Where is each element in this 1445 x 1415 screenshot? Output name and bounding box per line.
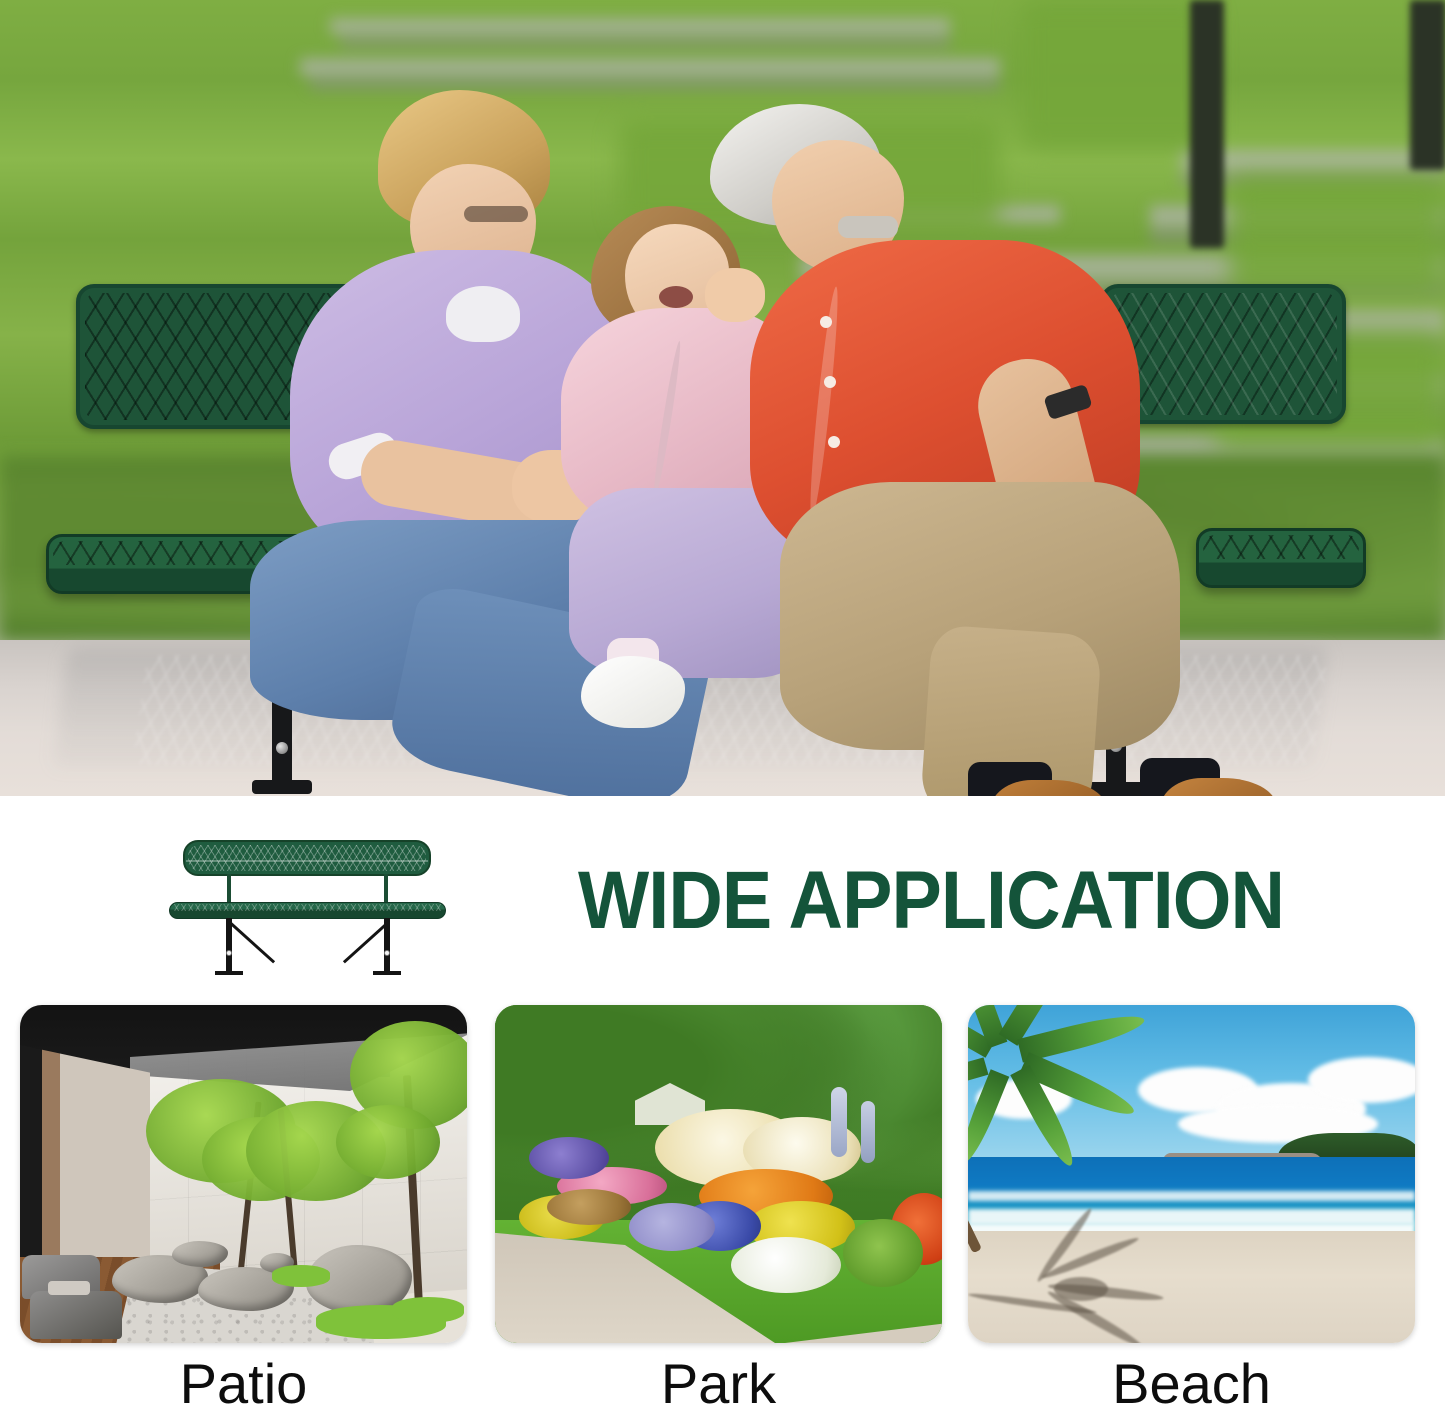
grandfather-button-3 — [828, 436, 840, 448]
mesh-pattern — [188, 845, 426, 871]
application-card-patio[interactable] — [20, 1005, 467, 1343]
cutout-post-left — [227, 874, 231, 904]
cutout-foot-left — [215, 971, 243, 975]
palm-shadow-crown — [1054, 1277, 1108, 1301]
beach-surf-far — [968, 1191, 1415, 1201]
park-spire-2 — [861, 1101, 875, 1163]
park-flowers-lavender — [629, 1203, 715, 1251]
application-card-beach[interactable] — [968, 1005, 1415, 1343]
cutout-post-right — [384, 874, 388, 904]
patio-rock-2 — [172, 1241, 228, 1267]
bench-product-cutout — [165, 836, 455, 976]
beach-photo — [968, 1005, 1415, 1343]
grandmother-collar — [446, 286, 520, 342]
background-post-right — [1410, 0, 1445, 170]
park-flowers-white-mound — [731, 1237, 841, 1293]
park-spire-1 — [831, 1087, 847, 1157]
hero-lifestyle-photo — [0, 0, 1445, 796]
cutout-backrest — [183, 840, 431, 876]
application-labels: Patio Park Beach — [0, 1352, 1445, 1415]
mesh-pattern — [171, 904, 444, 911]
grandmother-glasses — [464, 206, 528, 222]
cutout-bolt-left — [226, 950, 232, 956]
patio-photo — [20, 1005, 467, 1343]
patio-lounge-chair-2 — [30, 1291, 122, 1339]
patio-moss-1 — [272, 1265, 330, 1287]
bench-bolt-left — [276, 742, 288, 754]
person-grandfather — [710, 90, 1270, 796]
patio-moss-3 — [392, 1297, 464, 1323]
cutout-brace-left — [230, 922, 275, 963]
girl-mouth — [659, 286, 693, 308]
page-title: WIDE APPLICATION — [578, 860, 1284, 942]
label-patio: Patio — [20, 1352, 467, 1415]
application-card-park[interactable] — [495, 1005, 942, 1343]
park-shrub-brown — [547, 1189, 631, 1225]
park-grass-clump — [843, 1219, 923, 1287]
girl-sneaker — [581, 656, 685, 728]
park-flowers-purple — [529, 1137, 609, 1179]
cutout-leg-left — [226, 918, 232, 975]
cutout-bolt-right — [384, 950, 390, 956]
label-beach: Beach — [968, 1352, 1415, 1415]
grandfather-button-2 — [824, 376, 836, 388]
beach-sand — [968, 1231, 1415, 1343]
bench-foot-left — [252, 780, 312, 794]
cutout-foot-right — [373, 971, 401, 975]
cutout-backrest-rail — [186, 860, 428, 862]
label-park: Park — [495, 1352, 942, 1415]
park-photo — [495, 1005, 942, 1343]
patio-tree-foliage-3b — [336, 1105, 440, 1179]
patio-side-table — [48, 1281, 90, 1295]
grandfather-moustache — [838, 216, 898, 238]
grandfather-button-1 — [820, 316, 832, 328]
cutout-brace-right — [343, 922, 388, 963]
application-cards — [0, 1005, 1445, 1350]
